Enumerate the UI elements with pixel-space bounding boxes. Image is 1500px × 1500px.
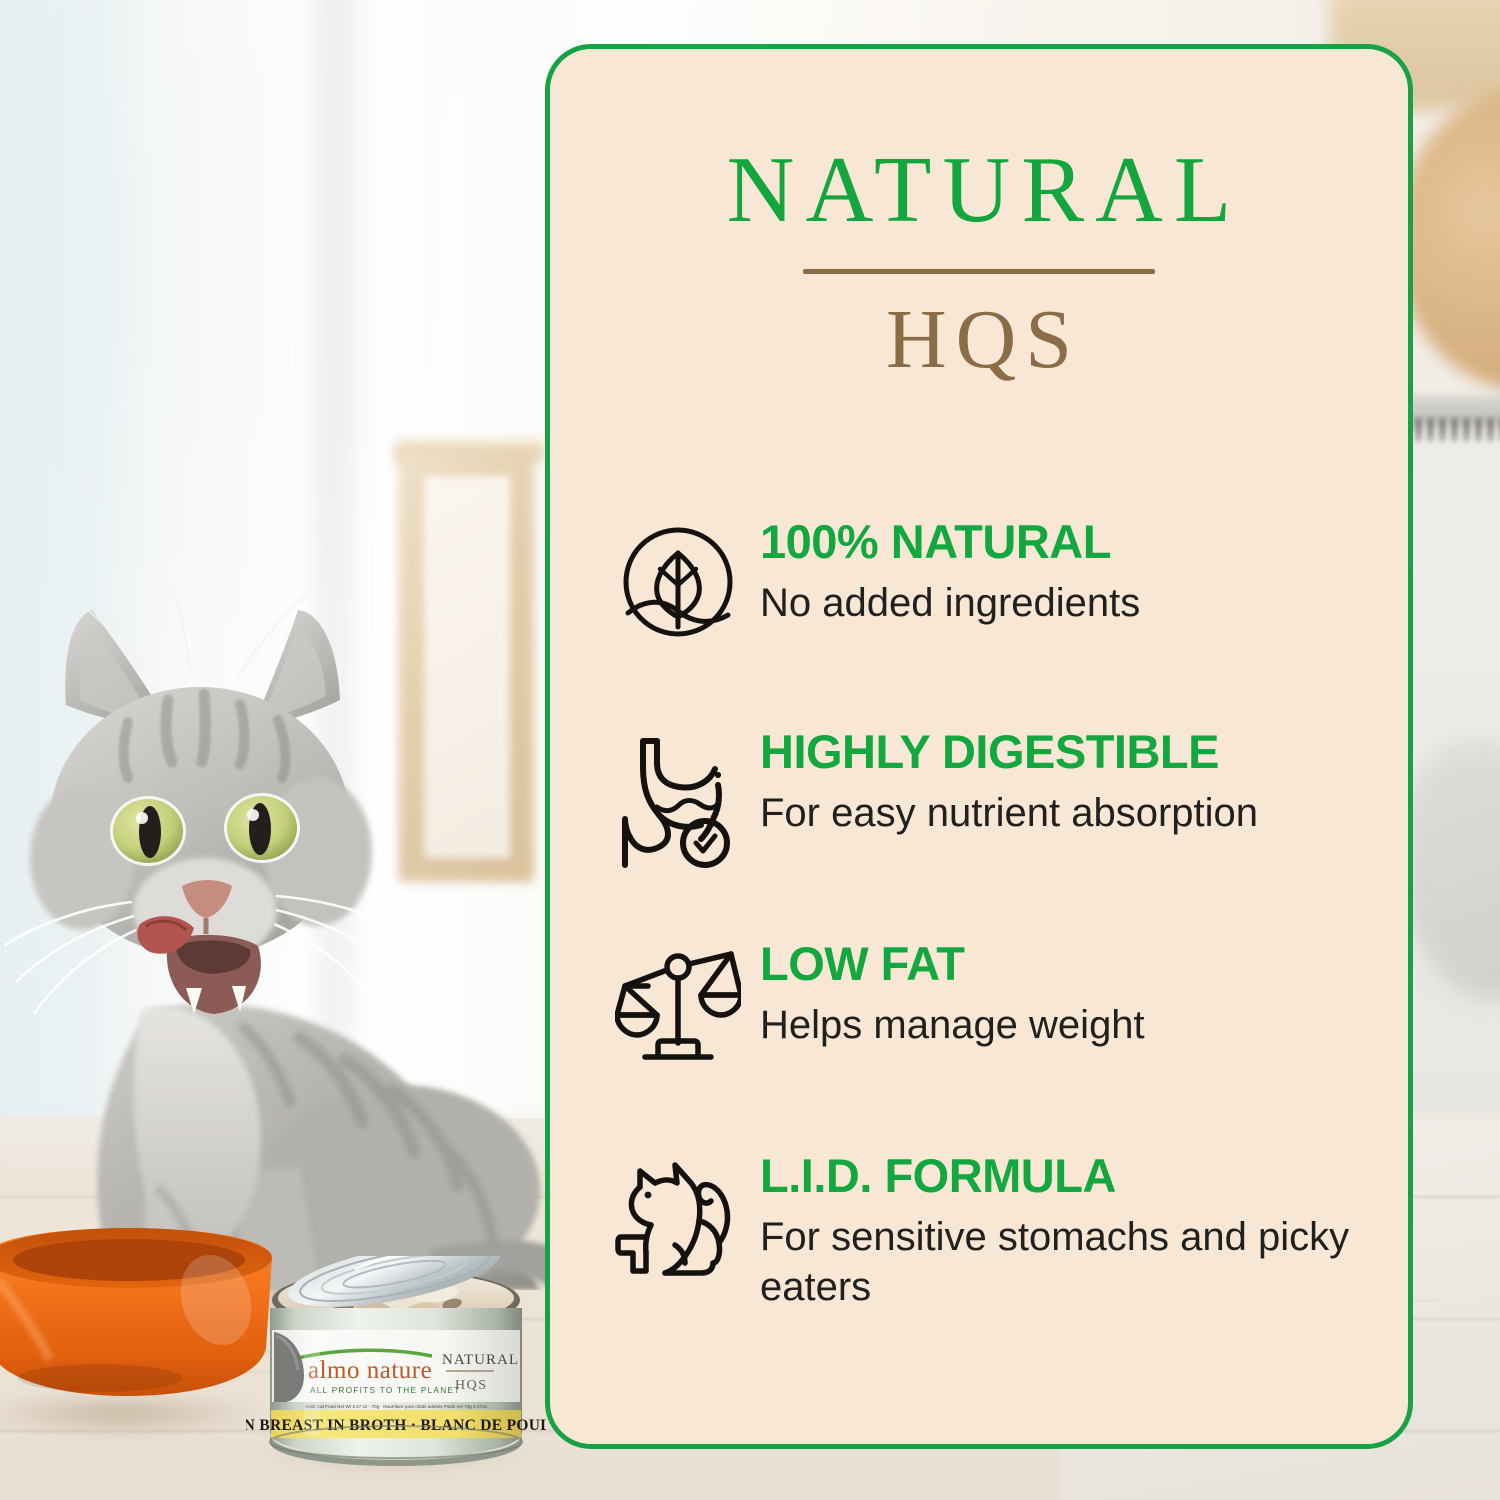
svg-text:HQS: HQS: [455, 1378, 488, 1393]
feature-subtitle: For sensitive stomachs and picky eaters: [760, 1212, 1356, 1312]
svg-text:almo nature: almo nature: [308, 1357, 432, 1384]
info-panel: NATURAL HQS 100% NATURAL: [545, 44, 1413, 1449]
product-infographic: almo nature ALL PROFITS TO THE PLANET NA…: [0, 0, 1500, 1500]
almo-nature-can: almo nature ALL PROFITS TO THE PLANET NA…: [246, 1256, 546, 1471]
feature-item: 100% NATURAL No added ingredients: [550, 517, 1408, 641]
brand-name: NATURAL: [550, 145, 1408, 235]
brand-lockup: NATURAL HQS: [550, 145, 1408, 382]
feature-title: 100% NATURAL: [760, 517, 1356, 567]
svg-text:NATURAL: NATURAL: [442, 1352, 519, 1368]
feature-item: HIGHLY DIGESTIBLE For easy nutrient abso…: [550, 727, 1408, 873]
feature-text: HIGHLY DIGESTIBLE For easy nutrient abso…: [748, 727, 1356, 838]
balance-scale-icon: [608, 939, 748, 1067]
cat-photo-subject: [0, 590, 600, 1290]
feature-text: 100% NATURAL No added ingredients: [748, 517, 1356, 628]
feature-title: L.I.D. FORMULA: [760, 1151, 1356, 1201]
feature-text: L.I.D. FORMULA For sensitive stomachs an…: [748, 1151, 1356, 1312]
svg-text:ALL PROFITS TO THE PLANET: ALL PROFITS TO THE PLANET: [310, 1386, 461, 1395]
leaf-in-circle-icon: [608, 517, 748, 641]
stomach-check-icon: [608, 727, 748, 873]
feature-item: L.I.D. FORMULA For sensitive stomachs an…: [550, 1151, 1408, 1312]
feature-subtitle: Helps manage weight: [760, 1000, 1356, 1050]
feature-title: HIGHLY DIGESTIBLE: [760, 727, 1356, 777]
feature-subtitle: For easy nutrient absorption: [760, 788, 1356, 838]
brand-line: HQS: [550, 298, 1408, 382]
feature-subtitle: No added ingredients: [760, 578, 1356, 628]
orange-pet-bowl: [0, 1228, 278, 1418]
feature-text: LOW FAT Helps manage weight: [748, 939, 1356, 1050]
feature-title: LOW FAT: [760, 939, 1356, 989]
feature-item: LOW FAT Helps manage weight: [550, 939, 1408, 1067]
sitting-cat-icon: [608, 1151, 748, 1287]
brand-divider: [803, 269, 1155, 274]
svg-text:Adult Cat Food Net Wt 2.47 oz: Adult Cat Food Net Wt 2.47 oz - 70g · No…: [305, 1404, 488, 1409]
feature-list: 100% NATURAL No added ingredients: [550, 517, 1408, 1312]
